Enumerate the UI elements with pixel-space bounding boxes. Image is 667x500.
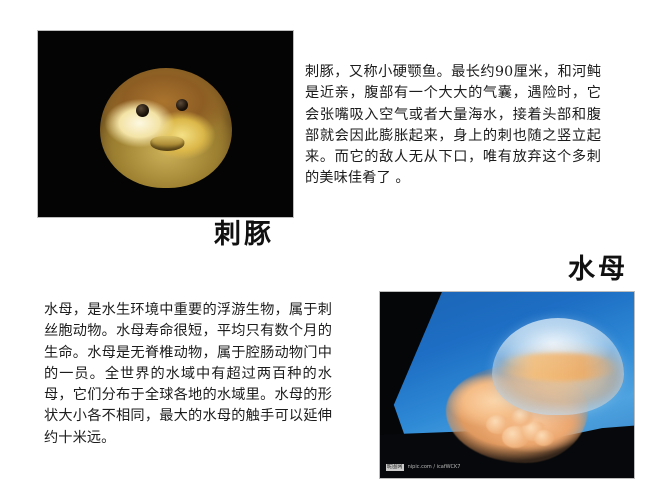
pufferfish-photo[interactable]	[38, 31, 293, 217]
watermark-site-name-cn: 昵图网	[386, 464, 404, 471]
pufferfish-scene	[38, 31, 293, 217]
jellyfish-photo[interactable]: 昵图网 nipic.com / icafWCK7	[380, 292, 634, 478]
slide-canvas: 刺豚 刺豚，又称小硬颚鱼。最长约90厘米，和河鲀是近亲，腹部有一个大大的气囊，遇…	[0, 0, 667, 500]
watermark-url: nipic.com / icafWCK7	[408, 465, 461, 470]
pufferfish-body	[100, 68, 232, 188]
jellyfish-caption: 水母	[568, 256, 628, 283]
pufferfish-paragraph: 刺豚，又称小硬颚鱼。最长约90厘米，和河鲀是近亲，腹部有一个大大的气囊，遇险时，…	[305, 62, 601, 190]
pufferfish-caption: 刺豚	[214, 221, 274, 248]
pufferfish-eye-right	[176, 99, 188, 111]
jellyfish-scene: 昵图网 nipic.com / icafWCK7	[380, 292, 634, 478]
jellyfish-photo-watermark: 昵图网 nipic.com / icafWCK7	[386, 464, 460, 471]
pufferfish-mouth	[150, 136, 184, 151]
pufferfish-eye-left	[136, 104, 149, 117]
jellyfish-paragraph: 水母，是水生环境中重要的浮游生物，属于刺丝胞动物。水母寿命很短，平均只有数个月的…	[44, 300, 332, 449]
